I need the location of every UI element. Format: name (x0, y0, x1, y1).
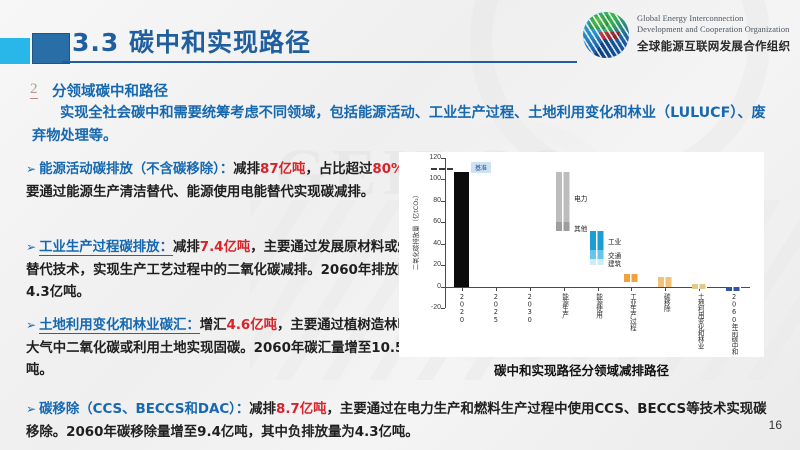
bullet-lead: 土地利用变化和林业碳汇： (39, 318, 200, 334)
bullet-lead: 工业生产过程碳排放： (39, 240, 173, 256)
chart-bar-gridline-overlay (624, 274, 639, 282)
chart-x-tick-label: 能源使用 (594, 293, 604, 318)
bullet-text-a: 减排 (249, 402, 276, 417)
logo-chinese-name: 全球能源互联网发展合作组织 (637, 38, 790, 54)
chart-y-tick-mark (441, 308, 445, 309)
chart-y-tick-label: 20 (433, 261, 441, 268)
chart-y-tick-mark (441, 158, 445, 159)
chart-x-tick-mark (665, 287, 666, 291)
bullet-highlight-a: 4.6亿吨 (227, 318, 278, 333)
bullet-highlight-a: 87亿吨 (260, 162, 305, 177)
bullet-lulucf-sink: ➢土地利用变化和林业碳汇：增汇4.6亿吨，主要通过植树造林吸收大气中二氧化碳或利… (26, 314, 436, 383)
chart-x-tick-label: 碳移除 (661, 293, 671, 312)
chart-x-tick-mark (598, 287, 599, 291)
chart-bar-gridline-overlay (454, 172, 469, 287)
slide-canvas: GEIDCO 3.3 碳中和实现路径 Global Energy Interco… (0, 0, 800, 450)
chart-x-tick-label: 2060年前碳中和 (729, 293, 739, 354)
chart-x-tick-mark (462, 287, 463, 291)
chart-segment-label: 电力 (574, 193, 587, 203)
chart-x-tick-label: 工业生产过程 (627, 293, 637, 330)
geidco-logo: Global Energy Interconnection Developmen… (583, 8, 793, 64)
page-number: 16 (769, 418, 782, 432)
bullet-highlight-a: 7.4亿吨 (200, 240, 251, 255)
header-accent-blue-square (32, 33, 70, 64)
chart-x-tick-label: 2030 (526, 293, 534, 323)
chart-plot-area: 120100806040200-20二氧化碳排放量（亿tCO₂）20202025… (445, 158, 750, 300)
header-accent-cyan-square (0, 38, 30, 64)
bullet-energy-activity: ➢能源活动碳排放（不含碳移除）：减排87亿吨，占比超过80%，主要通过能源生产清… (26, 158, 436, 204)
chart-y-tick-label: -20 (431, 304, 441, 311)
chart-x-tick-label: 能源生产 (560, 293, 570, 318)
chart-bar: 电力其他 (556, 172, 571, 231)
bullet-text-a: 增汇 (200, 318, 227, 333)
chart-y-tick-mark (441, 222, 445, 223)
slide-header: 3.3 碳中和实现路径 Global Energy Interconnectio… (0, 0, 800, 72)
chart-y-tick-label: 40 (433, 240, 441, 247)
chart-bar-gridline-overlay (590, 231, 605, 265)
chart-y-tick-label: 60 (433, 218, 441, 225)
bullet-arrow-icon: ➢ (26, 162, 36, 176)
section-number: 2 (30, 81, 38, 98)
bullet-industrial-process: ➢工业生产过程碳排放：减排7.4亿吨，主要通过发展原材料或燃料替代技术，实现生产… (26, 236, 436, 305)
chart-y-tick-mark (441, 244, 445, 245)
chart-y-tick-mark (441, 201, 445, 202)
logo-english-line1: Global Energy Interconnection (637, 13, 797, 24)
page-title: 3.3 碳中和实现路径 (72, 23, 311, 59)
globe-icon (583, 12, 629, 58)
bullet-text-a: 减排 (233, 162, 260, 177)
intro-paragraph: 实现全社会碳中和需要统筹考虑不同领域，包括能源活动、工业生产过程、土地利用变化和… (32, 102, 774, 148)
chart-y-tick-mark (441, 287, 445, 288)
bullet-carbon-removal: ➢碳移除（CCS、BECCS和DAC）：减排8.7亿吨，主要通过在电力生产和燃料… (26, 398, 774, 444)
logo-english-name: Global Energy Interconnection Developmen… (637, 13, 797, 35)
bullet-arrow-icon: ➢ (26, 318, 36, 332)
chart-bar (454, 172, 469, 287)
chart-y-tick-label: 100 (429, 175, 441, 182)
chart-bar (692, 284, 707, 289)
chart-bar (726, 287, 741, 292)
bullet-arrow-icon: ➢ (26, 402, 36, 416)
chart-y-tick-mark (441, 265, 445, 266)
chart-x-tick-mark (530, 287, 531, 291)
chart-segment-label: 建筑 (608, 258, 621, 268)
chart-caption: 碳中和实现路径分领域减排路径 (399, 360, 764, 379)
chart-x-tick-mark (631, 287, 632, 291)
section-title: 分领域碳中和路径 (52, 80, 168, 101)
chart-bar-gridline-overlay (726, 287, 741, 292)
chart-x-tick-mark (496, 287, 497, 291)
chart-bar (624, 274, 639, 282)
logo-english-line2: Development and Cooperation Organization (637, 24, 797, 35)
chart-y-axis-label: 二氧化碳排放量（亿tCO₂） (411, 166, 420, 296)
bullet-lead: 能源活动碳排放（不含碳移除）： (39, 162, 233, 177)
chart-y-tick-label: 120 (429, 154, 441, 161)
chart-bar: 工业交通建筑 (590, 231, 605, 265)
emission-pathway-chart: 基准 120100806040200-20二氧化碳排放量（亿tCO₂）20202… (399, 152, 764, 357)
bullet-text-b: ，占比超过 (305, 162, 372, 177)
chart-bar-gridline-overlay (556, 172, 571, 231)
header-underline (62, 61, 577, 63)
chart-x-tick-label: 2025 (492, 293, 500, 323)
bullet-highlight-a: 8.7亿吨 (276, 402, 327, 417)
chart-segment-label: 工业 (608, 236, 621, 246)
chart-bar-gridline-overlay (658, 277, 673, 286)
chart-y-tick-label: 80 (433, 197, 441, 204)
chart-bar-gridline-overlay (692, 284, 707, 289)
bullet-lead: 碳移除（CCS、BECCS和DAC）： (39, 402, 249, 417)
chart-x-tick-mark (564, 287, 565, 291)
chart-y-axis (445, 158, 446, 308)
chart-x-tick-label: 土地利用变化和林业 (695, 293, 705, 349)
chart-bar (658, 277, 673, 286)
bullet-arrow-icon: ➢ (26, 240, 36, 254)
chart-x-tick-label: 2020 (458, 293, 466, 323)
chart-y-tick-mark (441, 179, 445, 180)
bullet-text-a: 减排 (173, 240, 200, 255)
chart-segment-label: 其他 (574, 223, 587, 233)
